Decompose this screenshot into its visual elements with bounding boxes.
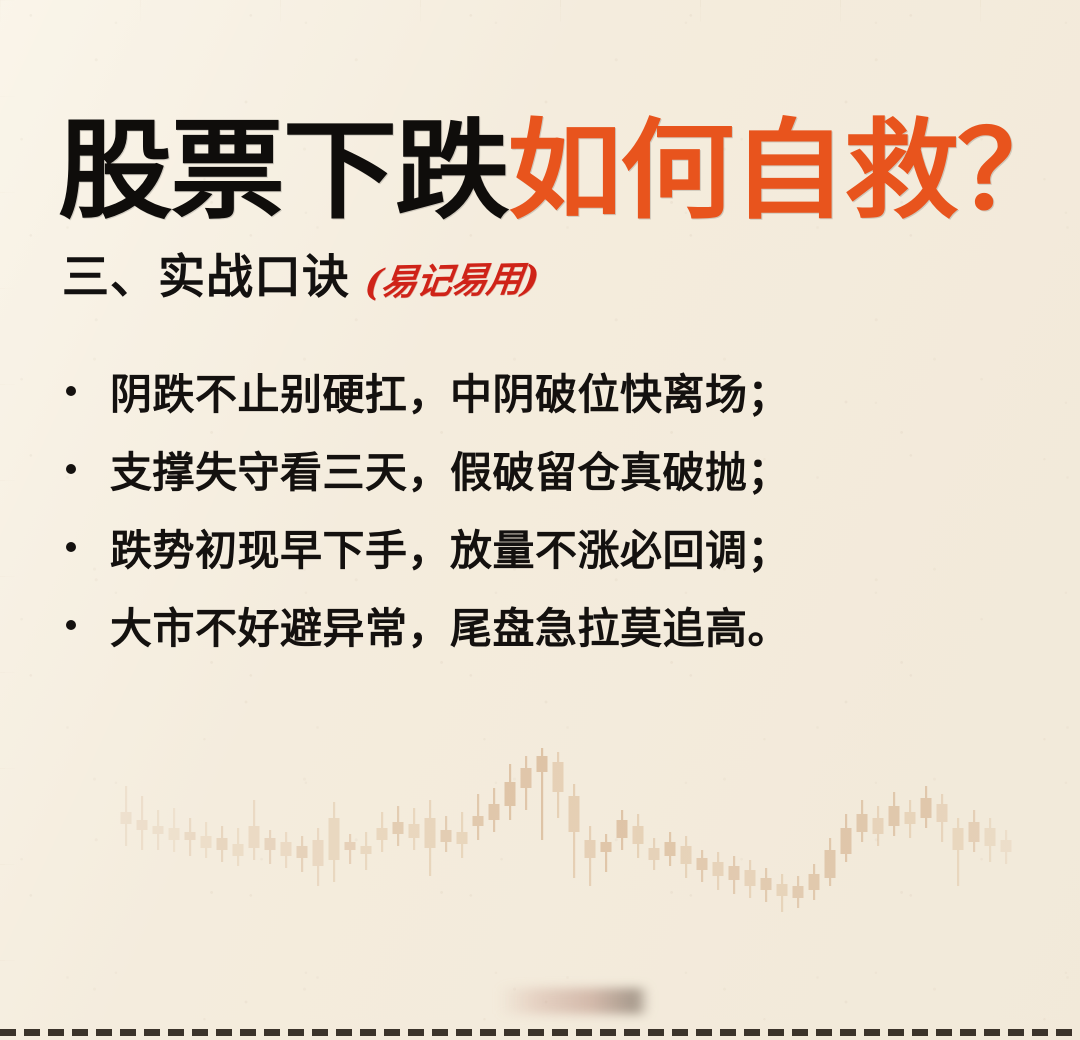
mnemonic-text: 大市不好避异常，尾盘急拉莫追高。 <box>110 595 790 656</box>
candlestick <box>345 834 356 864</box>
candlestick <box>185 818 196 856</box>
bullet-dot-icon <box>66 620 76 630</box>
candlestick <box>921 786 932 828</box>
candlestick <box>281 832 292 868</box>
candlestick <box>825 838 836 886</box>
mnemonic-list-item: 阴跌不止别硬扛，中阴破位快离场； <box>58 352 1018 430</box>
candlestick <box>297 836 308 872</box>
mnemonic-list: 阴跌不止别硬扛，中阴破位快离场；支撑失守看三天，假破留仓真破抛；跌势初现早下手，… <box>58 352 1018 664</box>
bullet-dot-icon <box>66 542 76 552</box>
candlestick <box>313 828 324 886</box>
candlestick <box>153 810 164 850</box>
candlestick <box>793 876 804 908</box>
candlestick <box>745 860 756 898</box>
candlestick <box>665 832 676 866</box>
section-heading-text: 三、实战口诀 <box>62 238 350 307</box>
page-title-orange-part: 如何自救？ <box>507 109 1069 234</box>
candlestick <box>409 808 420 850</box>
candlestick <box>729 856 740 894</box>
candlestick <box>505 764 516 820</box>
poster-canvas: 股票下跌如何自救？ 三、实战口诀 (易记易用) 阴跌不止别硬扛，中阴破位快离场；… <box>0 0 1080 1040</box>
mnemonic-text: 阴跌不止别硬扛，中阴破位快离场； <box>110 361 790 422</box>
bottom-dashed-divider <box>0 1029 1080 1036</box>
mnemonic-list-item: 大市不好避异常，尾盘急拉莫追高。 <box>58 586 1018 664</box>
candlestick <box>697 850 708 882</box>
candlestick <box>761 868 772 902</box>
candlestick <box>873 806 884 846</box>
candlestick <box>569 784 580 878</box>
candlestick <box>137 796 148 850</box>
bullet-dot-icon <box>66 464 76 474</box>
candlestick <box>489 788 500 832</box>
candlestick <box>633 814 644 858</box>
candlestick <box>425 800 436 876</box>
bottom-blurred-watermark <box>498 988 648 1014</box>
candlestick <box>905 800 916 838</box>
candlestick <box>537 748 548 840</box>
candlestick <box>249 800 260 860</box>
candlestick <box>585 826 596 886</box>
candlestick <box>473 794 484 840</box>
candlestick <box>649 838 660 870</box>
candlestick <box>937 794 948 842</box>
candlestick <box>121 786 132 846</box>
candlestick <box>361 832 372 870</box>
candlestick <box>233 828 244 866</box>
candlestick <box>169 808 180 852</box>
page-title-black-part: 股票下跌 <box>58 109 507 234</box>
candlestick <box>1001 830 1012 864</box>
candlestick-chart-watermark <box>0 700 1080 960</box>
candlestick <box>617 810 628 850</box>
candlestick <box>857 800 868 842</box>
bullet-dot-icon <box>66 386 76 396</box>
mnemonic-list-item: 跌势初现早下手，放量不涨必回调； <box>58 508 1018 586</box>
candlestick <box>329 802 340 882</box>
section-heading-handwritten-note: (易记易用) <box>362 250 542 306</box>
candlestick <box>217 826 228 862</box>
candlestick <box>681 836 692 878</box>
mnemonic-text: 支撑失守看三天，假破留仓真破抛； <box>110 439 790 500</box>
candlestick <box>441 816 452 852</box>
candlestick <box>377 812 388 852</box>
section-heading: 三、实战口诀 (易记易用) <box>62 238 538 307</box>
candlestick <box>553 752 564 818</box>
candlestick <box>601 834 612 872</box>
mnemonic-text: 跌势初现早下手，放量不涨必回调； <box>110 517 790 578</box>
candlestick <box>841 814 852 862</box>
candlestick <box>889 792 900 836</box>
page-title: 股票下跌如何自救？ <box>58 116 1069 228</box>
candlestick <box>809 864 820 900</box>
candlestick <box>393 806 404 846</box>
candlestick <box>265 830 276 864</box>
mnemonic-list-item: 支撑失守看三天，假破留仓真破抛； <box>58 430 1018 508</box>
candlestick <box>953 818 964 886</box>
candlestick <box>777 874 788 912</box>
candlestick <box>713 852 724 890</box>
candlestick <box>969 810 980 852</box>
candlestick <box>521 756 532 810</box>
candlestick <box>985 818 996 862</box>
candlestick <box>201 822 212 858</box>
candlestick <box>457 812 468 858</box>
